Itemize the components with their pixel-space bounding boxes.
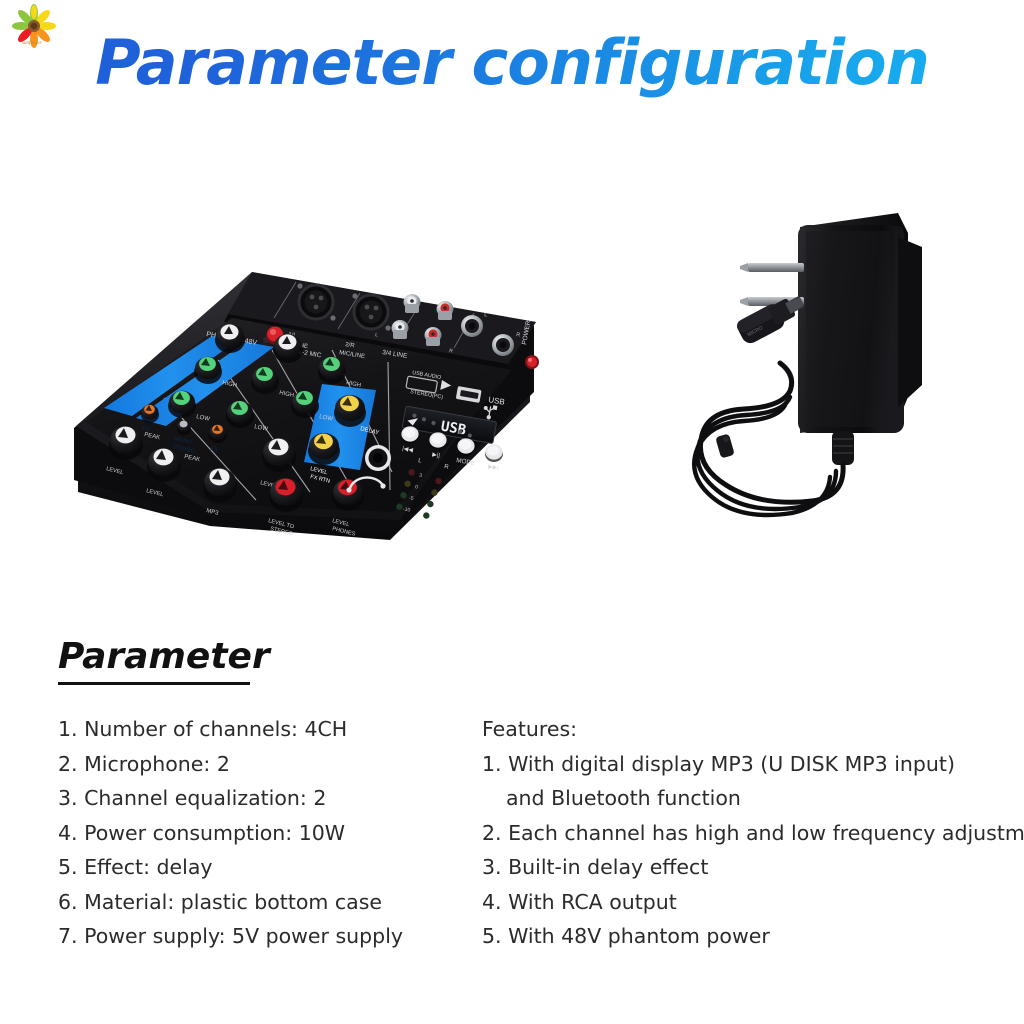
parameter-heading: Parameter [58, 636, 270, 677]
specs-area: 1. Number of channels: 4CH 2. Microphone… [0, 712, 1024, 972]
level-phones-knob[interactable] [332, 479, 364, 511]
list-item: 6. Material: plastic bottom case [58, 885, 458, 920]
eq-high-knob-1[interactable] [194, 357, 222, 384]
list-item: 1. Number of channels: 4CH [58, 712, 458, 747]
gain-knob-2[interactable] [273, 334, 303, 363]
mode-button[interactable] [457, 438, 475, 456]
level-fx-rtn-knob[interactable] [308, 433, 340, 465]
eq-high-knob-2[interactable] [251, 367, 279, 394]
delay-knob[interactable] [334, 395, 366, 427]
spec-column-left: 1. Number of channels: 4CH 2. Microphone… [58, 712, 458, 954]
level-knob-ch34[interactable] [262, 438, 296, 472]
list-item: 2. Each channel has high and low frequen… [482, 816, 1012, 851]
spec-column-right: Features: 1. With digital display MP3 (U… [482, 712, 1012, 954]
eq-low-knob-1[interactable] [168, 391, 196, 418]
adapter-body [798, 213, 922, 433]
eq-low-knob-2[interactable] [226, 401, 254, 428]
next-icon: ▶▶| [488, 464, 500, 472]
mp3-level-knob[interactable] [203, 468, 237, 502]
features-heading: Features: [482, 712, 1012, 747]
next-button[interactable] [485, 444, 503, 462]
fx-knob-2[interactable] [209, 425, 227, 443]
list-item: 3. Channel equalization: 2 [58, 781, 458, 816]
list-item: 5. Effect: delay [58, 850, 458, 885]
list-item: 1. With digital display MP3 (U DISK MP3 … [482, 747, 1012, 782]
product-photo-area: 1/L MIC/LINE 2/R MIC/LINE [0, 130, 1024, 630]
audio-mixer-image: 1/L MIC/LINE 2/R MIC/LINE [60, 140, 600, 620]
meter-scale-10: -10 [403, 506, 411, 513]
eq-high-knob-3[interactable] [318, 357, 346, 384]
cable-tie [715, 433, 735, 458]
fx-knob-1[interactable] [141, 405, 159, 423]
mono-stereo-switch[interactable] [177, 420, 191, 435]
list-item: 7. Power supply: 5V power supply [58, 919, 458, 954]
dc-strain-relief [832, 431, 854, 465]
level-knob-ch1[interactable] [109, 426, 143, 460]
play-button[interactable] [429, 432, 447, 450]
power-adapter-image: MICRO [640, 185, 980, 555]
list-item: 2. Microphone: 2 [58, 747, 458, 782]
level-knob-ch2[interactable] [147, 448, 181, 482]
list-item: 4. With RCA output [482, 885, 1012, 920]
parameter-heading-rule [58, 682, 250, 685]
list-item-continuation: and Bluetooth function [482, 781, 1012, 816]
power-led [525, 355, 539, 369]
list-item: 5. With 48V phantom power [482, 919, 1012, 954]
gain-knob-1[interactable] [215, 324, 245, 353]
product-spec-page: sunflower Parameter configuration [0, 0, 1024, 1024]
prev-button[interactable] [401, 426, 419, 444]
level-to-stereo-knob[interactable] [269, 478, 303, 512]
headphone-jack [365, 445, 391, 471]
eq-low-knob-3[interactable] [291, 391, 319, 418]
list-item: 4. Power consumption: 10W [58, 816, 458, 851]
page-title: Parameter configuration [0, 26, 1024, 99]
list-item: 3. Built-in delay effect [482, 850, 1012, 885]
